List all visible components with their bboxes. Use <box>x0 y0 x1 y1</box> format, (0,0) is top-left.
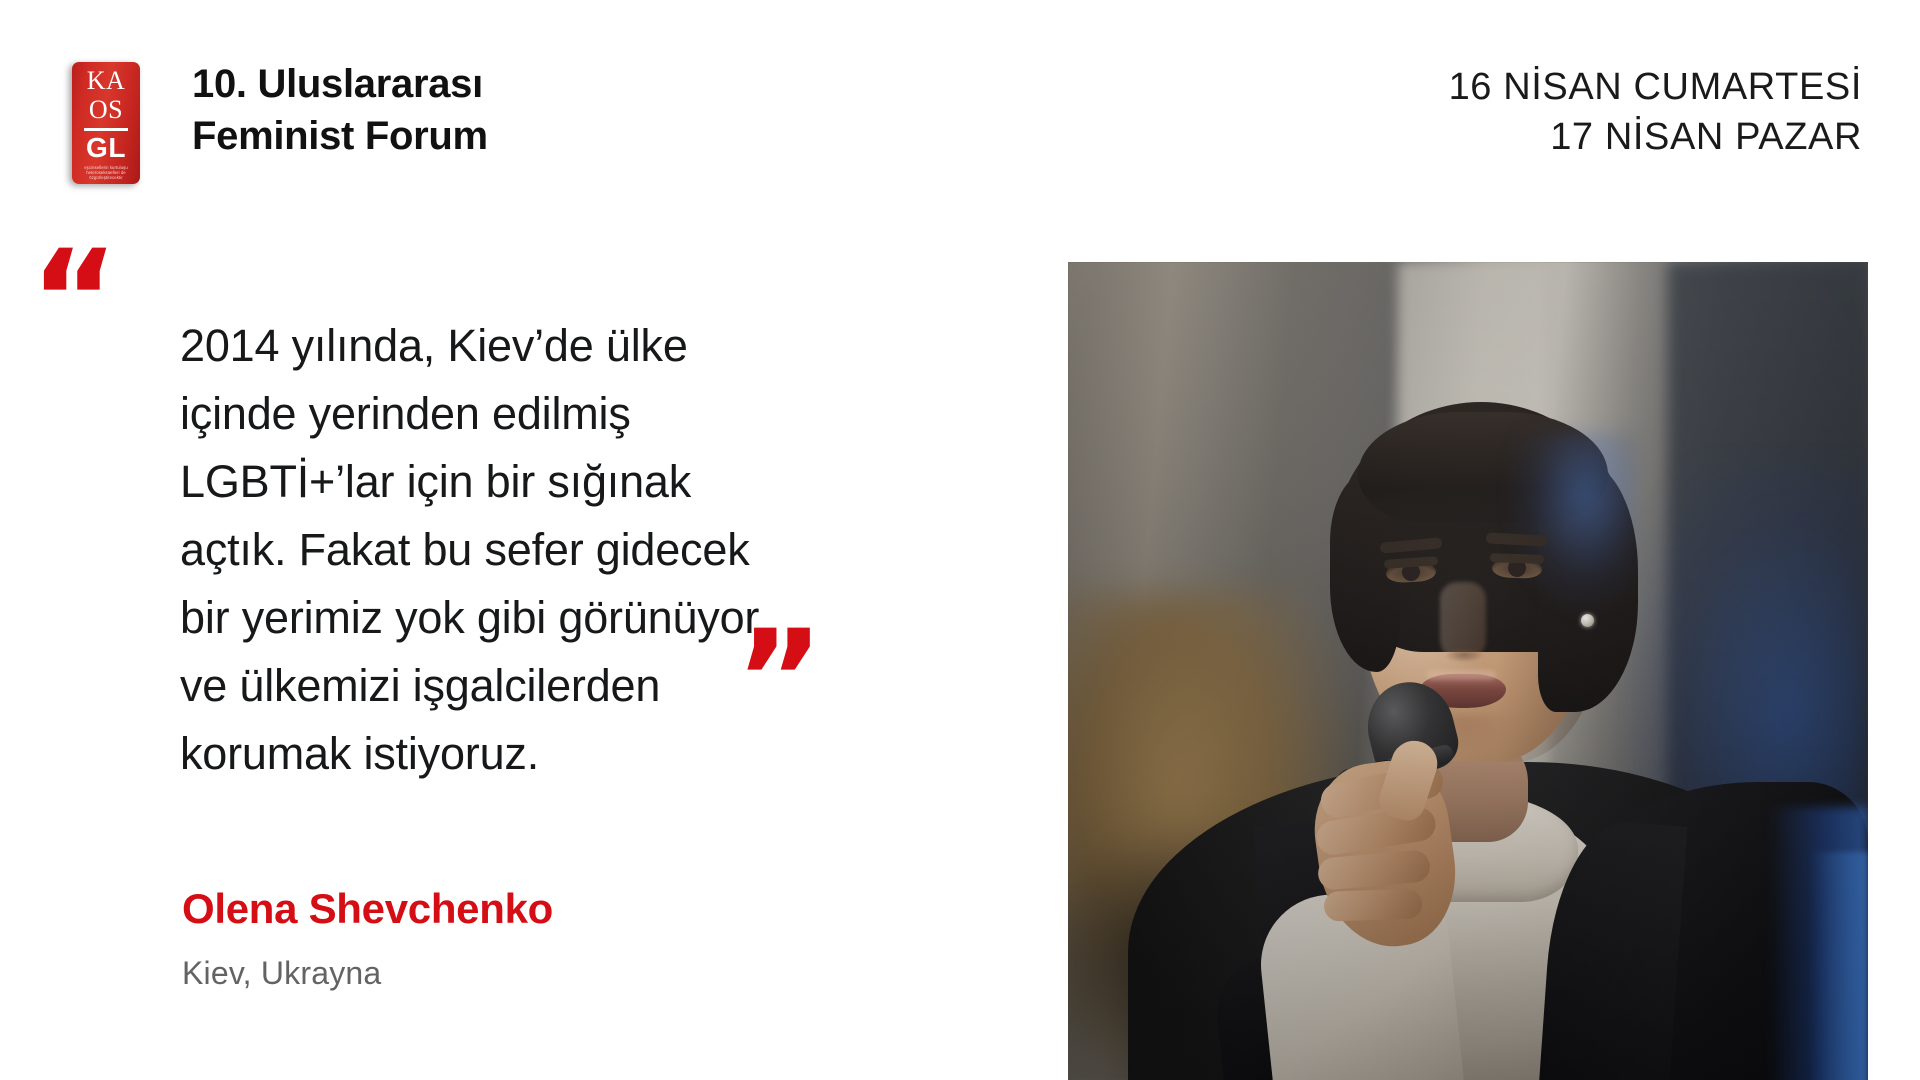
event-dates: 16 NİSAN CUMARTESİ 17 NİSAN PAZAR <box>1162 62 1862 162</box>
quote-line: açtık. Fakat bu sefer gidecek <box>180 516 900 584</box>
quote-line: 2014 yılında, Kiev’de ülke <box>180 312 900 380</box>
kaos-gl-logo: KA OS GL eşcinsellerin kurtuluşu heteros… <box>72 62 140 184</box>
photo-nostrils <box>1444 648 1484 662</box>
photo-hair-blue-highlight <box>1508 432 1638 612</box>
forum-title: 10. Uluslararası Feminist Forum <box>192 58 832 162</box>
logo-divider-rule <box>84 128 128 131</box>
photo-upper-lip-highlight <box>1426 670 1496 680</box>
logo-text-os: OS <box>72 95 140 125</box>
logo-card: KA OS GL eşcinsellerin kurtuluşu heteros… <box>72 62 140 184</box>
speaker-location: Kiev, Ukrayna <box>182 955 381 992</box>
speaker-photo <box>1068 262 1868 1080</box>
photo-earring <box>1581 614 1594 627</box>
photo-eyelid-right <box>1490 553 1544 564</box>
quote-open-icon: “ <box>30 250 115 350</box>
quote-close-icon: ” <box>735 630 820 730</box>
quote-line: içinde yerinden edilmiş <box>180 380 900 448</box>
logo-text-gl: GL <box>72 132 140 164</box>
quote-line: LGBTİ+’lar için bir sığınak <box>180 448 900 516</box>
logo-tagline: eşcinsellerin kurtuluşu heteroseksüeller… <box>72 165 140 181</box>
event-date-line-1: 16 NİSAN CUMARTESİ <box>1162 62 1862 112</box>
photo-finger-little <box>1324 888 1423 921</box>
page-header: KA OS GL eşcinsellerin kurtuluşu heteros… <box>0 0 1920 200</box>
event-date-line-2: 17 NİSAN PAZAR <box>1162 112 1862 162</box>
logo-text-ka: KA <box>72 66 140 96</box>
speaker-name: Olena Shevchenko <box>182 885 553 933</box>
photo-jacket-blue-edge-inner <box>1810 852 1868 1080</box>
